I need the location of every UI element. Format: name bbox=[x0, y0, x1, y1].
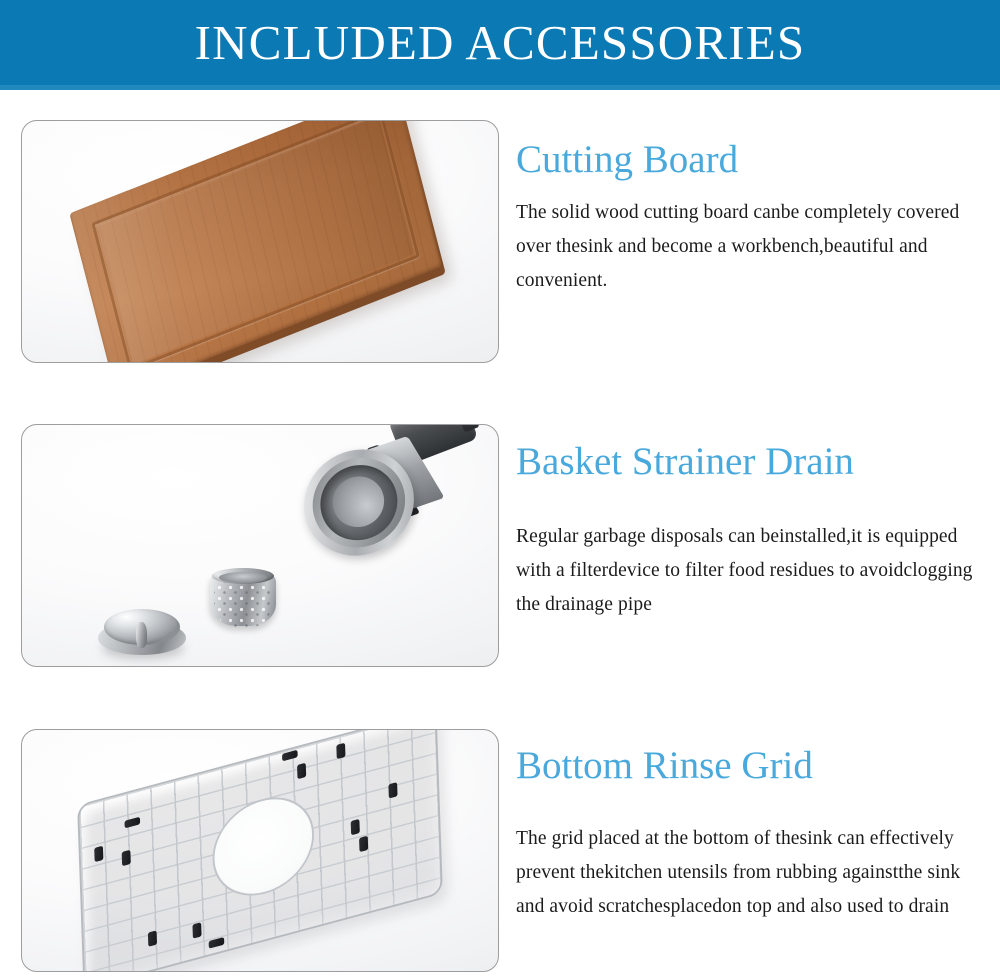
accessory-title: Cutting Board bbox=[516, 138, 986, 182]
accessory-image-card-basket-strainer-drain bbox=[21, 424, 499, 667]
drain-stopper-graphic bbox=[98, 607, 186, 661]
bottom-rinse-grid-photo bbox=[22, 730, 498, 971]
rinse-grid-foot bbox=[359, 836, 368, 852]
rinse-grid-foot bbox=[297, 763, 306, 779]
rinse-grid-graphic bbox=[77, 729, 451, 972]
cutting-board-graphic bbox=[69, 120, 454, 363]
accessory-text-basket-strainer-drain: Basket Strainer Drain Regular garbage di… bbox=[516, 440, 986, 622]
accessory-title: Bottom Rinse Grid bbox=[516, 744, 986, 788]
rinse-grid-foot bbox=[336, 743, 345, 759]
rinse-grid-wire-mesh bbox=[77, 729, 443, 972]
rinse-grid-foot bbox=[122, 850, 131, 866]
accessory-row-basket-strainer-drain: Basket Strainer Drain Regular garbage di… bbox=[0, 422, 1000, 672]
accessory-title: Basket Strainer Drain bbox=[516, 440, 986, 484]
rinse-grid-foot bbox=[124, 817, 140, 829]
rinse-grid-foot bbox=[351, 819, 360, 835]
rinse-grid-foot bbox=[192, 922, 201, 938]
cutting-board-surface bbox=[69, 120, 442, 363]
accessory-image-card-cutting-board bbox=[21, 120, 499, 363]
accessory-description: The solid wood cutting board canbe compl… bbox=[516, 196, 986, 298]
rinse-grid-drain-cutout bbox=[211, 786, 316, 908]
accessory-image-card-bottom-rinse-grid bbox=[21, 729, 499, 972]
accessory-description: Regular garbage disposals can beinstalle… bbox=[516, 520, 986, 622]
banner-underline bbox=[0, 85, 1000, 90]
accessory-description: The grid placed at the bottom of thesink… bbox=[516, 822, 986, 924]
page-title: INCLUDED ACCESSORIES bbox=[0, 0, 1000, 85]
accessory-text-bottom-rinse-grid: Bottom Rinse Grid The grid placed at the… bbox=[516, 744, 986, 924]
rinse-grid-foot bbox=[209, 937, 225, 949]
accessory-row-bottom-rinse-grid: Bottom Rinse Grid The grid placed at the… bbox=[0, 727, 1000, 977]
basket-strainer-drain-photo bbox=[22, 425, 498, 666]
page-header-banner: INCLUDED ACCESSORIES bbox=[0, 0, 1000, 90]
rinse-grid-foot bbox=[388, 782, 397, 798]
cutting-board-photo bbox=[22, 121, 498, 362]
strainer-basket-graphic bbox=[210, 568, 276, 630]
accessory-row-cutting-board: Cutting Board The solid wood cutting boa… bbox=[0, 118, 1000, 368]
accessory-text-cutting-board: Cutting Board The solid wood cutting boa… bbox=[516, 138, 986, 298]
strainer-basket-opening bbox=[219, 572, 267, 583]
strainer-basket-perforations bbox=[214, 582, 272, 628]
rinse-grid-foot bbox=[282, 750, 298, 762]
cutting-board-inner-panel bbox=[97, 120, 414, 363]
rinse-grid-foot bbox=[148, 930, 157, 946]
drain-stopper-knob bbox=[136, 622, 147, 648]
drain-flange-graphic bbox=[284, 424, 447, 579]
rinse-grid-foot bbox=[94, 846, 103, 862]
